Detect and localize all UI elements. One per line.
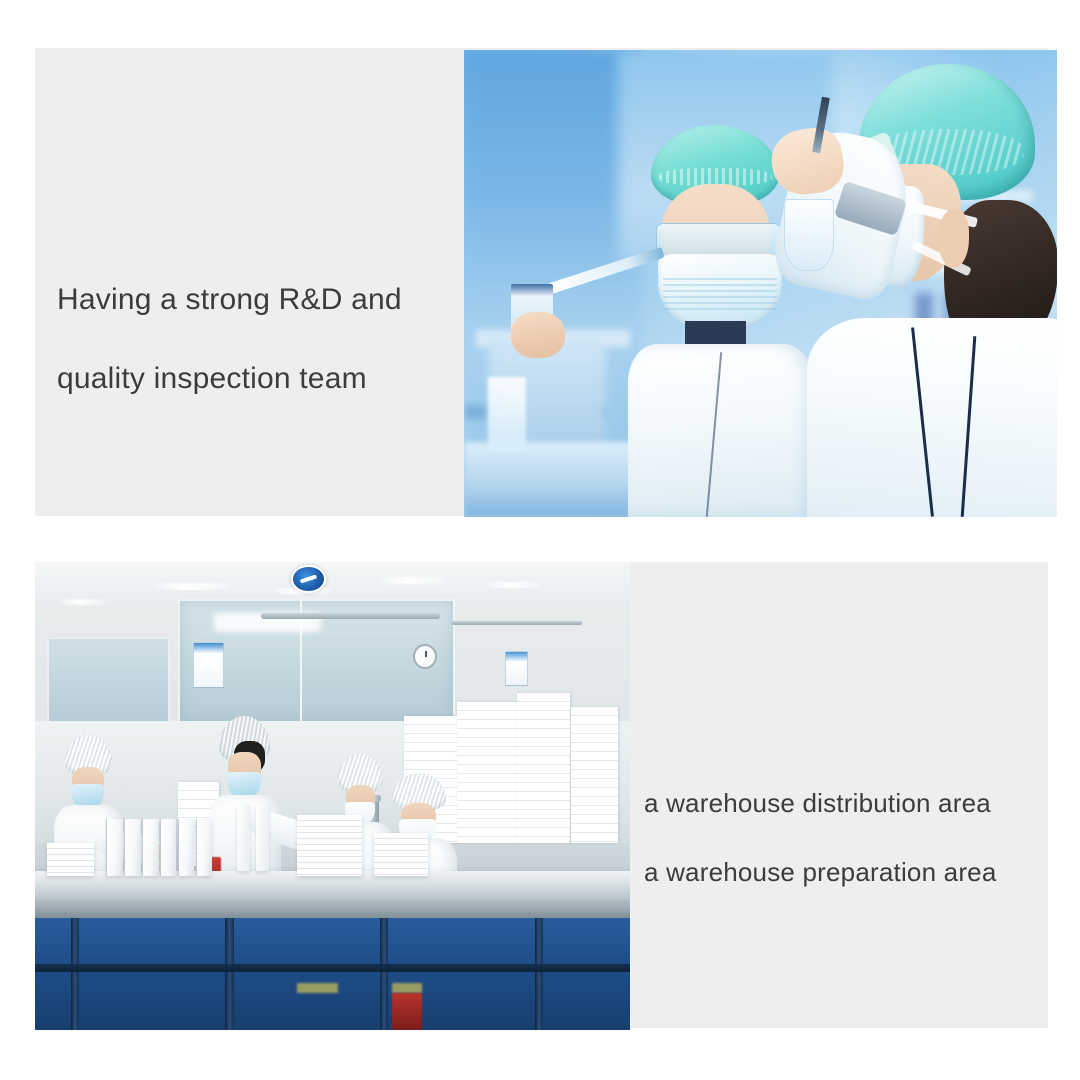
floor-marking: [392, 983, 422, 992]
page-root: Having a strong R&D and quality inspecti…: [0, 0, 1080, 1080]
ceiling: [35, 562, 630, 604]
laboratory-quality-inspection-photo: [464, 50, 1057, 517]
product-carton: [160, 819, 176, 875]
stainless-steel-table-edge: [35, 904, 630, 918]
product-carton: [124, 819, 140, 875]
lab-coat: [807, 318, 1057, 517]
floor-marking: [297, 983, 339, 992]
product-carton: [106, 819, 122, 875]
wall-notice-board: [193, 642, 225, 689]
rd-quality-caption: Having a strong R&D and quality inspecti…: [57, 240, 457, 438]
table-leg: [225, 918, 233, 1030]
warehouse-caption-line-2: a warehouse preparation area: [644, 855, 1044, 889]
carton-stack: [517, 693, 571, 843]
table-leg: [71, 918, 79, 1030]
table-cross-bar: [35, 964, 630, 971]
warehouse-caption: a warehouse distribution area a warehous…: [644, 752, 1044, 924]
flat-carton-stack: [297, 815, 362, 876]
product-carton: [196, 819, 212, 875]
flat-carton-stack: [47, 843, 95, 876]
product-tube: [256, 805, 269, 871]
glass-flask: [784, 199, 833, 271]
wall-notice-board: [505, 651, 528, 686]
ceiling-rail: [452, 621, 583, 626]
blue-circular-sign-icon: [291, 565, 326, 593]
warehouse-caption-line-1: a warehouse distribution area: [644, 786, 1044, 820]
lab-beaker: [488, 377, 527, 452]
ceiling-light: [487, 582, 541, 589]
rd-quality-caption-line-1: Having a strong R&D and: [57, 280, 457, 320]
table-leg: [535, 918, 543, 1030]
warehouse-packing-area-photo: [35, 562, 630, 1030]
ceiling-light: [59, 599, 107, 606]
ceiling-light: [154, 583, 231, 590]
table-leg: [380, 918, 388, 1030]
product-tube: [237, 805, 250, 871]
red-object: [392, 993, 422, 1030]
ceiling-rail: [261, 613, 440, 619]
ceiling-light: [380, 577, 445, 584]
carton-stack: [457, 702, 517, 842]
rd-quality-caption-line-2: quality inspection team: [57, 359, 457, 399]
product-carton: [178, 819, 194, 875]
product-carton: [142, 819, 158, 875]
carton-stack: [571, 707, 619, 843]
hand-holding-sample: [511, 312, 564, 359]
flat-carton-stack: [374, 833, 428, 875]
